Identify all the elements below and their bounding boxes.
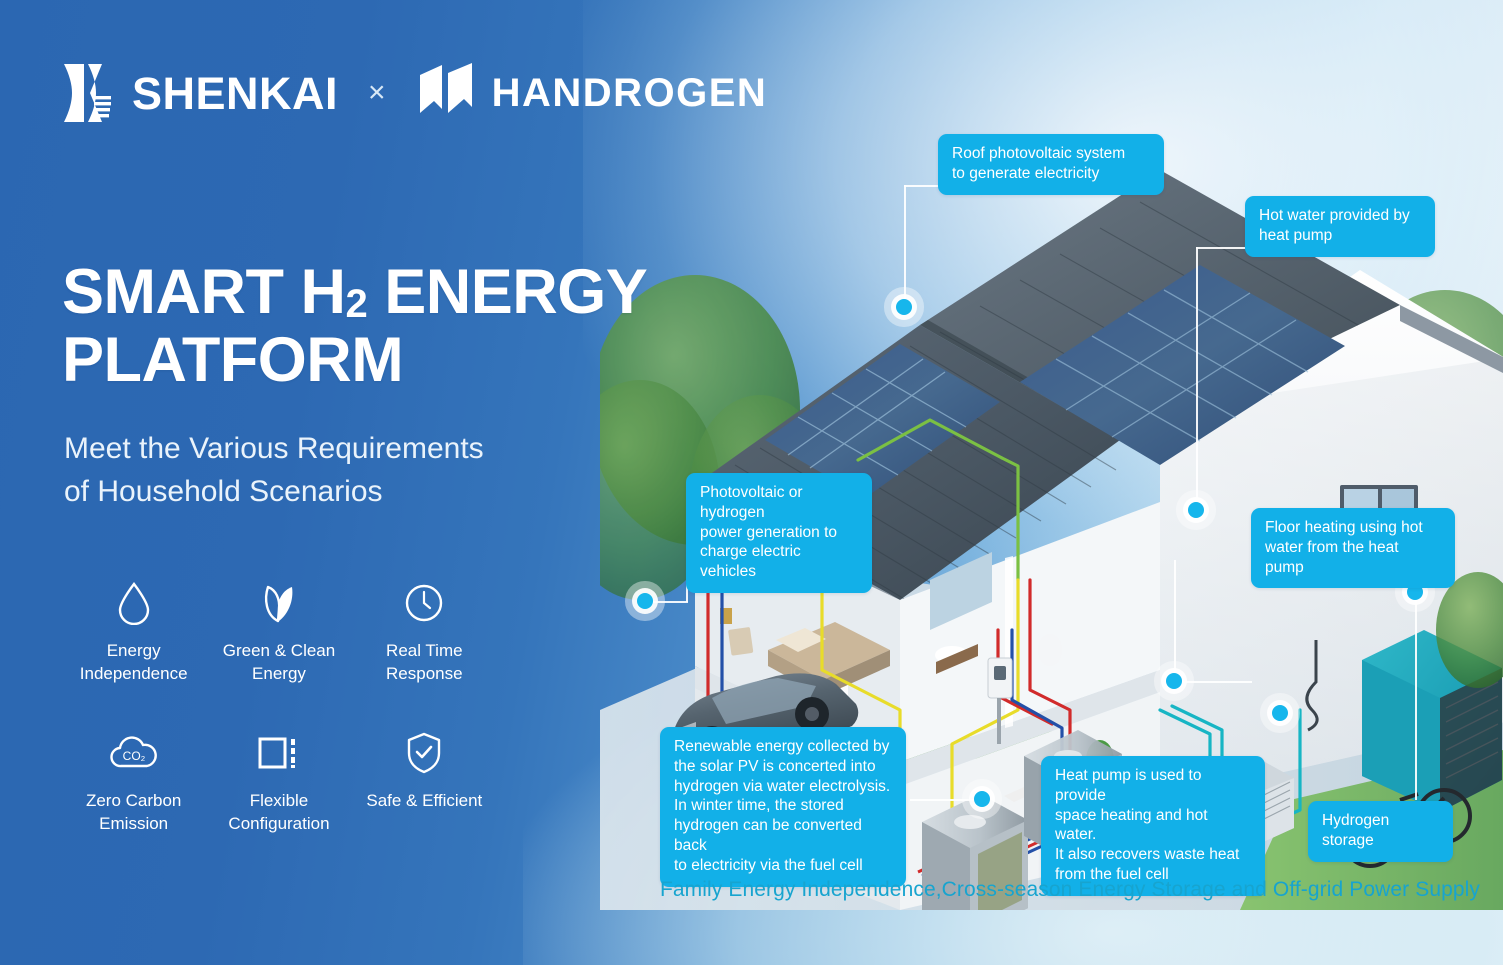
leader-line-floor-heating [1174, 681, 1252, 683]
pin-electrolysis[interactable] [974, 791, 990, 807]
water-drop-icon [116, 580, 152, 626]
pin-roof-pv[interactable] [896, 299, 912, 315]
leaf-icon [258, 580, 300, 626]
shield-check-icon [404, 730, 444, 776]
pin-ev-charging[interactable] [637, 593, 653, 609]
modular-block-icon [257, 730, 301, 776]
feature-label: Energy Independence [80, 640, 188, 686]
handrogen-logo-mark [416, 63, 478, 123]
subtitle-line-2: of Household Scenarios [64, 471, 484, 514]
headline-part1: SMART H [62, 257, 345, 327]
callout-hot-water[interactable]: Hot water provided by heat pump [1245, 196, 1435, 257]
shenkai-wordmark: SHENKAI [132, 71, 338, 116]
feature-label: Real Time Response [386, 640, 463, 686]
feature-label: Safe & Efficient [366, 790, 482, 813]
feature-green-clean-energy: Green & Clean Energy [209, 580, 348, 686]
callout-floor-heating[interactable]: Floor heating using hot water from the h… [1251, 508, 1455, 588]
callout-electrolysis[interactable]: Renewable energy collected by the solar … [660, 727, 906, 887]
infographic-canvas: SHENKAI × HANDROGEN SMART H2 ENERGY PLAT… [0, 0, 1503, 965]
co2-cloud-icon: CO₂ [108, 730, 160, 776]
leader-line-hot-water-stub [1196, 247, 1248, 249]
brand-separator: × [368, 76, 386, 110]
feature-label: Flexible Configuration [228, 790, 329, 836]
shenkai-brand: SHENKAI [62, 62, 338, 124]
leader-line-roof-pv [904, 185, 906, 307]
subtitle-line-1: Meet the Various Requirements [64, 428, 484, 471]
leader-line-floor-heating-v [1174, 560, 1176, 682]
feature-grid: Energy Independence Green & Clean Energy… [64, 580, 494, 836]
pin-floor-heating[interactable] [1166, 673, 1182, 689]
callout-heat-pump[interactable]: Heat pump is used to provide space heati… [1041, 756, 1265, 896]
brand-logo-row: SHENKAI × HANDROGEN [62, 62, 767, 124]
pin-hot-water[interactable] [1188, 502, 1204, 518]
feature-zero-carbon-emission: CO₂ Zero Carbon Emission [64, 730, 203, 836]
shenkai-logo-mark [62, 62, 118, 124]
leader-line-hydrogen-store [1415, 600, 1417, 800]
clock-icon [403, 580, 445, 626]
pin-heat-pump[interactable] [1272, 705, 1288, 721]
leader-line-ev [648, 601, 688, 603]
page-subtitle: Meet the Various Requirements of Househo… [64, 428, 484, 513]
feature-real-time-response: Real Time Response [355, 580, 494, 686]
callout-hydrogen-storage[interactable]: Hydrogen storage [1308, 801, 1453, 862]
page-title: SMART H2 ENERGY PLATFORM [62, 258, 647, 394]
feature-safe-efficient: Safe & Efficient [355, 730, 494, 836]
headline-subscript: 2 [345, 282, 367, 326]
leader-line-electrolysis [910, 799, 982, 801]
callout-ev-charging[interactable]: Photovoltaic or hydrogen power generatio… [686, 473, 872, 593]
handrogen-brand: HANDROGEN [416, 63, 768, 123]
feature-label: Zero Carbon Emission [86, 790, 181, 836]
headline-part2: ENERGY [367, 257, 647, 327]
leader-line-roof-pv-stub [904, 185, 942, 187]
handrogen-wordmark: HANDROGEN [492, 73, 768, 113]
leader-line-hot-water [1196, 247, 1198, 510]
feature-label: Green & Clean Energy [223, 640, 335, 686]
svg-text:CO₂: CO₂ [122, 749, 145, 763]
callout-roof-pv[interactable]: Roof photovoltaic system to generate ele… [938, 134, 1164, 195]
footer-caption: Family Energy Independence,Cross-season … [655, 878, 1485, 902]
headline-line2: PLATFORM [62, 325, 403, 395]
feature-energy-independence: Energy Independence [64, 580, 203, 686]
feature-flexible-configuration: Flexible Configuration [209, 730, 348, 836]
